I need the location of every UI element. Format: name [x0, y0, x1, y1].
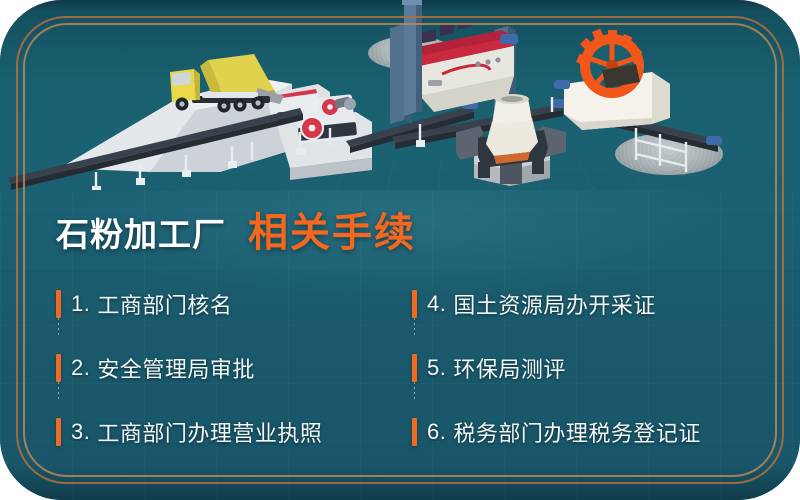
poster-card: 石粉加工厂 相关手续 1. 工商部门核名 2. 安全管理局审批 — [0, 0, 800, 500]
connector-dots — [414, 318, 415, 338]
procedure-column-left: 1. 工商部门核名 2. 安全管理局审批 3. 工商部门办理营业执照 — [56, 272, 412, 464]
bullet-bar-icon — [56, 418, 61, 446]
title-main-text: 石粉加工厂 — [56, 208, 226, 256]
list-item[interactable]: 6. 税务部门办理税务登记证 — [412, 400, 756, 464]
list-item-number: 4. — [427, 291, 446, 317]
page-title: 石粉加工厂 相关手续 — [56, 200, 416, 258]
sand-washer-wheel-icon — [540, 22, 690, 132]
list-item-number: 1. — [71, 291, 90, 317]
bullet-bar-icon — [412, 418, 417, 446]
list-item-number: 5. — [427, 355, 446, 381]
title-accent-text: 相关手续 — [248, 200, 416, 258]
list-item-label: 税务部门办理税务登记证 — [453, 416, 701, 448]
connector-dots — [58, 382, 59, 402]
support-column-icon — [398, 0, 428, 120]
list-item[interactable]: 1. 工商部门核名 — [56, 272, 412, 336]
poster-stage: 石粉加工厂 相关手续 1. 工商部门核名 2. 安全管理局审批 — [0, 0, 800, 500]
connector-dots — [414, 382, 415, 402]
production-line-illustration — [0, 0, 800, 205]
list-item-number: 6. — [427, 419, 446, 445]
procedure-list: 1. 工商部门核名 2. 安全管理局审批 3. 工商部门办理营业执照 — [56, 272, 756, 464]
card-bottom-shadow — [0, 466, 800, 500]
list-item-number: 3. — [71, 419, 90, 445]
list-item-label: 安全管理局审批 — [97, 352, 255, 384]
connector-dots — [58, 318, 59, 338]
bullet-bar-icon — [412, 290, 417, 318]
list-item[interactable]: 3. 工商部门办理营业执照 — [56, 400, 412, 464]
list-item[interactable]: 5. 环保局测评 — [412, 336, 756, 400]
bullet-bar-icon — [56, 354, 61, 382]
list-item[interactable]: 4. 国土资源局办开采证 — [412, 272, 756, 336]
list-item-number: 2. — [71, 355, 90, 381]
list-item-label: 国土资源局办开采证 — [453, 288, 656, 320]
procedure-column-right: 4. 国土资源局办开采证 5. 环保局测评 6. 税务部门办理税务登记证 — [412, 272, 756, 464]
list-item[interactable]: 2. 安全管理局审批 — [56, 336, 412, 400]
bullet-bar-icon — [412, 354, 417, 382]
list-item-label: 工商部门办理营业执照 — [97, 416, 322, 448]
list-item-label: 工商部门核名 — [97, 288, 232, 320]
bullet-bar-icon — [56, 290, 61, 318]
list-item-label: 环保局测评 — [453, 352, 566, 384]
